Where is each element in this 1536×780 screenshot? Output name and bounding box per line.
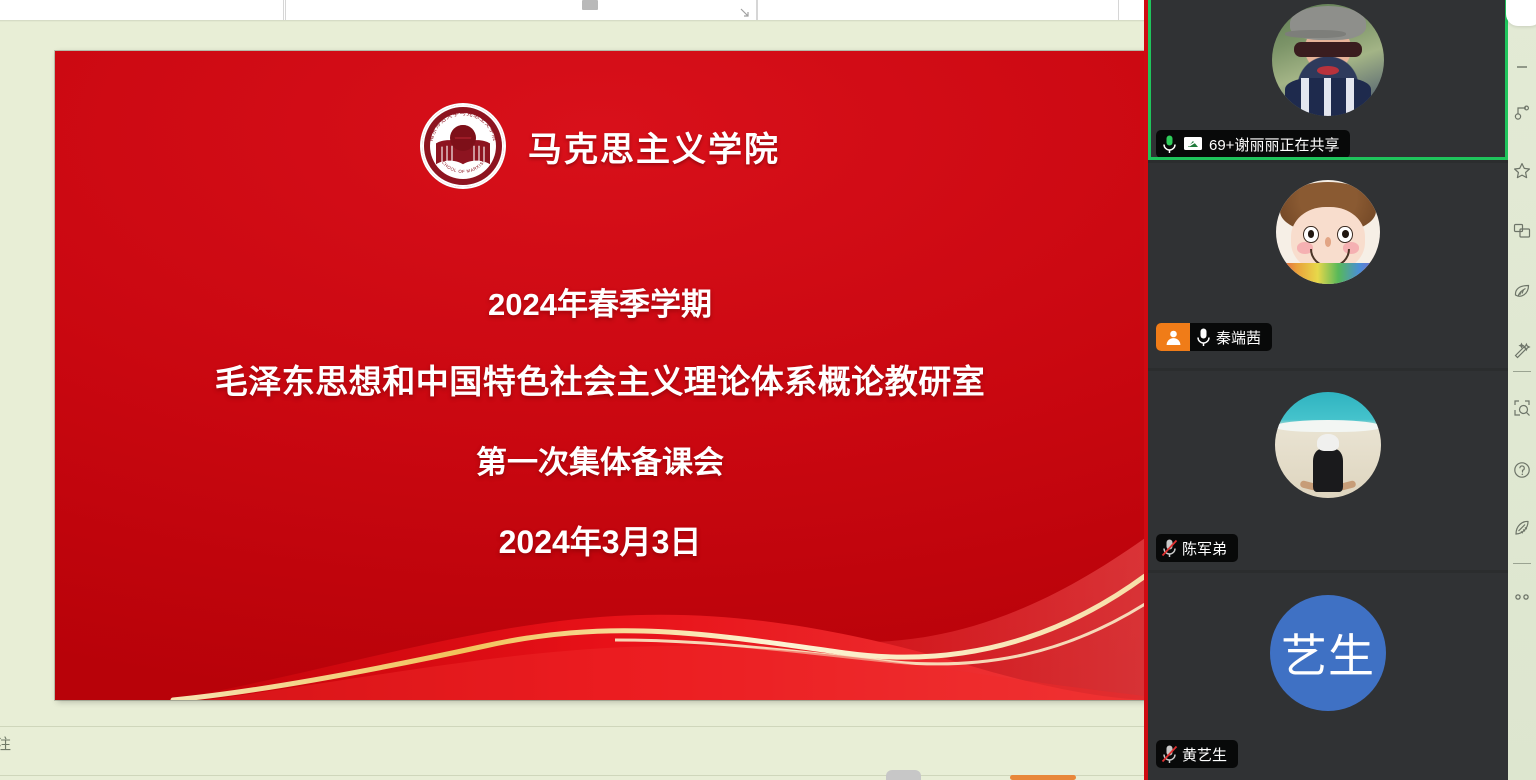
ribbon-dialog-launcher-icon[interactable] (740, 8, 750, 18)
host-badge-icon (1156, 323, 1190, 351)
avatar-initials-text: 艺生 (1281, 620, 1375, 686)
right-tool-rail[interactable] (1508, 0, 1536, 780)
participant-name: 秦端茜 (1216, 327, 1261, 348)
statusbar-divider (0, 775, 1144, 776)
magic-wand-icon[interactable] (1508, 336, 1536, 366)
window-copy-icon[interactable] (1508, 216, 1536, 246)
microphone-muted-icon (1156, 740, 1182, 768)
help-icon[interactable] (1508, 455, 1536, 485)
participant-tile[interactable]: 陈军弟 (1148, 371, 1508, 570)
minimize-icon[interactable] (1508, 52, 1536, 82)
rail-divider (1513, 371, 1531, 372)
slide-header: 南京师范大学马克思主义学院 SCHOOL OF MARXISM (55, 103, 1145, 189)
participant-name: 陈军弟 (1182, 538, 1227, 559)
rail-divider (1513, 563, 1531, 564)
statusbar-accent-control[interactable] (1010, 775, 1076, 780)
ribbon-group-left (0, 0, 284, 20)
avatar (1276, 180, 1380, 284)
share-node-icon[interactable] (1508, 98, 1536, 128)
feather-icon[interactable] (1508, 513, 1536, 543)
video-participant-panel[interactable]: 69+谢丽丽正在共享 (1144, 0, 1508, 780)
notes-placeholder-text[interactable]: 注 (0, 733, 11, 754)
ribbon-icon-a (582, 0, 598, 10)
screenshot-icon[interactable] (1508, 393, 1536, 423)
statusbar-control[interactable] (886, 770, 921, 780)
participant-tile[interactable]: 秦端茜 (1148, 163, 1508, 368)
rail-top-card[interactable] (1506, 0, 1536, 26)
ribbon-shadow (0, 20, 1144, 22)
avatar: 艺生 (1270, 595, 1386, 711)
marx-portrait-icon (450, 125, 476, 151)
ribbon-group-center[interactable] (285, 0, 757, 20)
presentation-app-root: 南京师范大学马克思主义学院 SCHOOL OF MARXISM (0, 0, 1536, 780)
participant-namebar: 陈军弟 (1156, 534, 1238, 562)
leaf-icon[interactable] (1508, 277, 1536, 307)
slide-line-meeting: 第一次集体备课会 (55, 437, 1145, 482)
microphone-unmuted-icon (1190, 323, 1216, 351)
slide-organization-title: 马克思主义学院 (528, 122, 780, 171)
avatar (1275, 392, 1381, 498)
slide-line-date: 2024年3月3日 (55, 517, 1145, 563)
active-speaker-highlight (1148, 0, 1508, 160)
ribbon-strip (0, 0, 1144, 20)
slide-line-dept: 毛泽东思想和中国特色社会主义理论体系概论教研室 (55, 355, 1145, 403)
avatar-initials: 艺生 (1270, 595, 1386, 711)
participant-tile[interactable]: 艺生 黄艺生 (1148, 573, 1508, 780)
star-icon[interactable] (1508, 156, 1536, 186)
more-dots-icon[interactable] (1508, 582, 1536, 612)
participant-name: 黄艺生 (1182, 744, 1227, 765)
slide-line-term: 2024年春季学期 (55, 279, 1145, 324)
participant-namebar: 秦端茜 (1156, 323, 1272, 351)
ribbon-group-right[interactable] (757, 0, 1119, 20)
notes-pane-divider (0, 726, 1144, 727)
slide-canvas[interactable]: 南京师范大学马克思主义学院 SCHOOL OF MARXISM (55, 51, 1145, 700)
microphone-muted-icon (1156, 534, 1182, 562)
slide-text-block: 2024年春季学期 毛泽东思想和中国特色社会主义理论体系概论教研室 第一次集体备… (55, 279, 1145, 563)
participant-namebar: 黄艺生 (1156, 740, 1238, 768)
marxism-college-seal-icon: 南京师范大学马克思主义学院 SCHOOL OF MARXISM (420, 103, 506, 189)
